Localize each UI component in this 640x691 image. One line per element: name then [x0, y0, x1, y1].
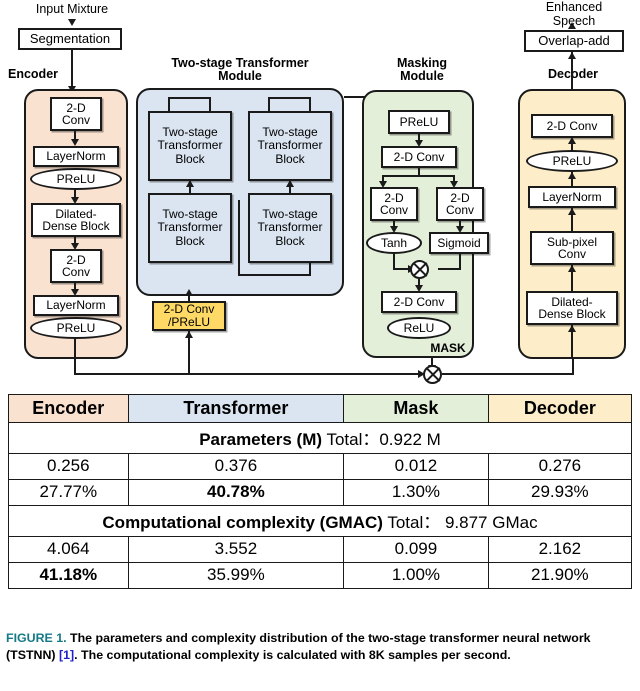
masking-module-label: Masking Module [362, 57, 482, 83]
figure-caption: FIGURE 1. The parameters and complexity … [6, 630, 634, 664]
transformer-route-1-v [209, 97, 211, 111]
encoder-node-layernorm-1[interactable]: LayerNorm [33, 146, 119, 167]
table-header-transformer: Transformer [128, 395, 344, 423]
transformer-route-1-h [168, 97, 211, 99]
parameters-mask-value: 0.012 [344, 454, 489, 480]
masking-node-2d-conv-right[interactable]: 2-D Conv [436, 187, 484, 221]
figure-caption-text-2: . The computational complexity is calcul… [74, 648, 511, 662]
transformer-route-3-v [238, 200, 240, 276]
parameters-mask-percent: 1.30% [344, 480, 489, 506]
masking-node-2d-conv-1[interactable]: 2-D Conv [381, 146, 457, 168]
input-mixture-label: Input Mixture [12, 2, 132, 16]
table-header-row: Encoder Transformer Mask Decoder [9, 395, 632, 423]
complexity-mask-percent: 1.00% [344, 563, 489, 589]
masking-node-sigmoid[interactable]: Sigmoid [429, 232, 489, 254]
table-section-title-row-parameters: Parameters (M) Total：0.922 M [9, 423, 632, 454]
complexity-encoder-percent: 41.18% [9, 563, 129, 589]
decoder-arrow-3 [568, 208, 576, 215]
transformer-route-2-v2 [268, 97, 270, 111]
decoder-node-prelu[interactable]: PReLU [526, 150, 618, 172]
decoder-arrow-4 [568, 265, 576, 272]
encoder-output-line [74, 339, 76, 375]
complexity-transformer-value: 3.552 [128, 537, 344, 563]
parameters-decoder-percent: 29.93% [488, 480, 631, 506]
table-section-title-row-complexity: Computational complexity (GMAC) Total： 9… [9, 506, 632, 537]
masking-node-prelu[interactable]: PReLU [388, 110, 450, 134]
figure-number: FIGURE 1. [6, 631, 67, 645]
decoder-node-subpixel-conv[interactable]: Sub-pixel Conv [530, 231, 614, 265]
transformer-input-arrow-up [185, 289, 193, 296]
encoder-bus-line [74, 373, 424, 375]
stats-table-body: Encoder Transformer Mask Decoder Paramet… [9, 395, 632, 589]
table-row: 4.064 3.552 0.099 2.162 [9, 537, 632, 563]
encoder-node-layernorm-2[interactable]: LayerNorm [33, 295, 119, 316]
transformer-arrow-br-tr [286, 180, 294, 187]
table-row: 0.256 0.376 0.012 0.276 [9, 454, 632, 480]
parameters-encoder-value: 0.256 [9, 454, 129, 480]
decoder-node-2d-conv[interactable]: 2-D Conv [531, 114, 613, 138]
transformer-feed-arrow [185, 331, 193, 338]
encoder-node-2d-conv-2[interactable]: 2-D Conv [50, 249, 102, 283]
masking-node-tanh[interactable]: Tanh [366, 232, 422, 254]
complexity-decoder-percent: 21.90% [488, 563, 631, 589]
figure-reference-link[interactable]: [1] [59, 648, 74, 662]
transformer-arrow-bl-tl [186, 180, 194, 187]
enhanced-speech-label: Enhanced Speech [514, 0, 634, 28]
transformer-input-conv-prelu[interactable]: 2-D Conv /PReLU [152, 301, 226, 331]
encoder-node-2d-conv-1[interactable]: 2-D Conv [50, 97, 102, 131]
parameters-title-rest: Total：0.922 M [322, 430, 441, 449]
decoder-node-dilated-dense-block[interactable]: Dilated- Dense Block [526, 291, 618, 325]
encoder-arrow-1 [71, 139, 79, 146]
decoder-module-label: Decoder [548, 68, 628, 81]
transformer-route-1-v2 [168, 97, 170, 111]
final-multiply-operator [423, 365, 442, 384]
masking-merge-right-h [438, 268, 459, 270]
decoder-node-layernorm[interactable]: LayerNorm [528, 186, 616, 208]
complexity-mask-value: 0.099 [344, 537, 489, 563]
table-row: 41.18% 35.99% 1.00% 21.90% [9, 563, 632, 589]
transformer-route-2-v [309, 97, 311, 111]
architecture-diagram: Input Mixture Segmentation Encoder 2-D C… [0, 0, 640, 392]
transformer-block-top-right[interactable]: Two-stage Transformer Block [248, 111, 332, 181]
parameters-title-bold: Parameters (M) [199, 430, 322, 449]
decoder-arrow-1 [568, 137, 576, 144]
stats-table: Encoder Transformer Mask Decoder Paramet… [8, 394, 632, 589]
table-header-encoder: Encoder [9, 395, 129, 423]
parameters-transformer-percent: 40.78% [128, 480, 344, 506]
parameters-encoder-percent: 27.77% [9, 480, 129, 506]
arrow-input-to-segmentation [68, 19, 76, 26]
transformer-route-2-h [268, 97, 311, 99]
complexity-title-bold: Computational complexity (GMAC) [102, 513, 383, 532]
segmentation-box[interactable]: Segmentation [18, 28, 122, 50]
masking-node-2d-conv-left[interactable]: 2-D Conv [370, 187, 418, 221]
masking-node-2d-conv-out[interactable]: 2-D Conv [381, 291, 457, 313]
transformer-block-bottom-right[interactable]: Two-stage Transformer Block [248, 193, 332, 263]
decoder-to-overlap-arrow [568, 52, 576, 59]
masking-merge-right-v [459, 254, 461, 270]
masking-node-relu[interactable]: ReLU [387, 317, 451, 339]
decoder-arrow-5 [568, 325, 576, 332]
masking-split-bar [382, 175, 455, 177]
table-header-mask: Mask [344, 395, 489, 423]
bus-decoder-riser [572, 359, 574, 375]
complexity-section-title: Computational complexity (GMAC) Total： 9… [9, 506, 632, 537]
table-header-decoder: Decoder [488, 395, 631, 423]
complexity-transformer-percent: 35.99% [128, 563, 344, 589]
masking-multiply-operator [410, 260, 429, 279]
stats-table-wrap: Encoder Transformer Mask Decoder Paramet… [8, 394, 632, 589]
transformer-module-label: Two-stage Transformer Module [140, 57, 340, 83]
transformer-input-line-up [188, 296, 190, 302]
overlap-add-box[interactable]: Overlap-add [524, 30, 624, 52]
decoder-arrow-2 [568, 172, 576, 179]
encoder-module-label: Encoder [8, 68, 88, 81]
encoder-node-dilated-dense-block[interactable]: Dilated- Dense Block [31, 203, 121, 237]
transformer-block-bottom-left[interactable]: Two-stage Transformer Block [148, 193, 232, 263]
transformer-route-3-v2 [309, 263, 311, 276]
complexity-decoder-value: 2.162 [488, 537, 631, 563]
transformer-route-3-h [238, 274, 311, 276]
complexity-title-rest: Total： 9.877 GMac [383, 513, 538, 532]
complexity-encoder-value: 4.064 [9, 537, 129, 563]
encoder-node-prelu-1[interactable]: PReLU [30, 168, 122, 190]
parameters-decoder-value: 0.276 [488, 454, 631, 480]
parameters-section-title: Parameters (M) Total：0.922 M [9, 423, 632, 454]
encoder-node-prelu-2[interactable]: PReLU [30, 317, 122, 339]
mask-output-label: MASK [420, 341, 476, 355]
parameters-transformer-value: 0.376 [128, 454, 344, 480]
transformer-block-top-left[interactable]: Two-stage Transformer Block [148, 111, 232, 181]
table-row: 27.77% 40.78% 1.30% 29.93% [9, 480, 632, 506]
bus-mult-to-decoder [442, 373, 574, 375]
